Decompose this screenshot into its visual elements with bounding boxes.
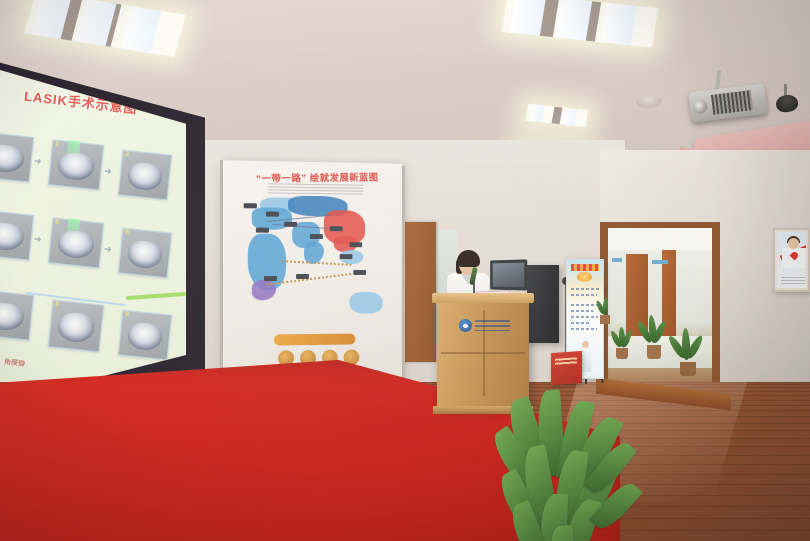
- poster-headline: [571, 264, 599, 271]
- slide-panel: 1: [0, 131, 34, 182]
- arrow-icon: ➜: [103, 244, 112, 256]
- slide-panel: 4: [0, 209, 34, 260]
- foreground-plant: [505, 398, 695, 541]
- wall-framed-poster: [773, 228, 810, 292]
- slide-panel: 9: [118, 310, 173, 361]
- slide-panel: 5: [48, 217, 105, 268]
- potted-plant: [612, 330, 632, 360]
- slide-panel: 2: [48, 139, 105, 190]
- slide-caption: 角膜瓣: [3, 357, 25, 369]
- banner-frame-post: [402, 166, 405, 378]
- potted-plant: [597, 300, 613, 326]
- poster-sun-graphic: [577, 272, 592, 282]
- slide-panel: 8: [48, 299, 105, 352]
- projection-screen: LASIK手术示意图 1 ➜ 2 ➜ 3 4 ➜ 5 ➜ 6 7 8: [0, 66, 186, 406]
- belt-and-road-banner: “一带一路” 绘就发展新蓝图: [221, 160, 402, 382]
- laptop[interactable]: [490, 259, 527, 290]
- arrow-icon: ➜: [33, 234, 42, 246]
- potted-plant: [673, 332, 703, 378]
- slide-panel: 6: [118, 228, 173, 279]
- banner-pill-label: [274, 334, 355, 346]
- hospital-logo: [459, 318, 511, 334]
- slide-panel: 3: [118, 150, 173, 201]
- presenter-monitor: [527, 265, 559, 343]
- banner-frame-post: [220, 160, 223, 386]
- banner-world-map: [221, 191, 402, 354]
- red-box-sign: [551, 351, 582, 385]
- projector-vent: [711, 90, 753, 115]
- slide-panel: 7: [0, 289, 34, 340]
- eye-logo-icon: [459, 319, 472, 332]
- arrow-icon: ➜: [33, 156, 42, 168]
- potted-plant: [641, 320, 667, 362]
- corridor-sign: [652, 260, 668, 264]
- lecture-room-photo: “一带一路” 绘就发展新蓝图: [0, 0, 810, 541]
- podium: [437, 300, 529, 408]
- corridor-sign: [612, 258, 622, 262]
- arrow-icon: ➜: [103, 166, 112, 178]
- banner-title: “一带一路” 绘就发展新蓝图: [237, 169, 396, 185]
- projector-lens: [692, 99, 708, 115]
- slide-green-accent: [126, 292, 186, 300]
